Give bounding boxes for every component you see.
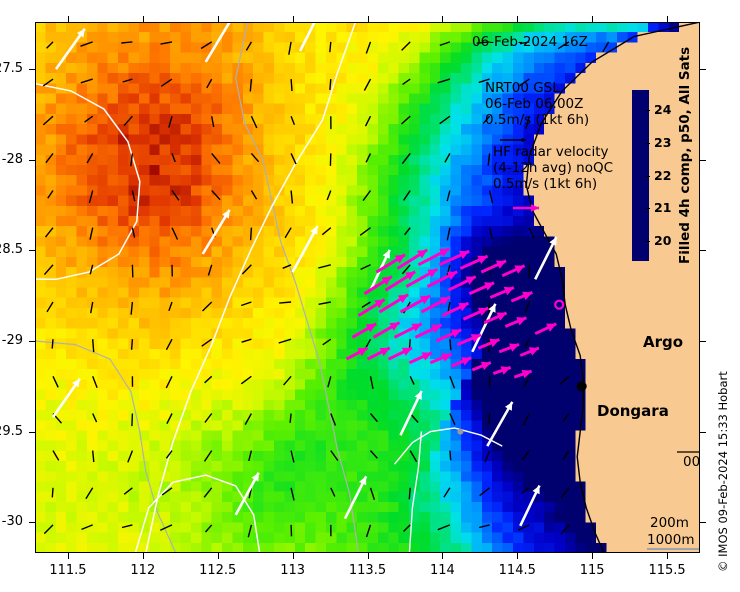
x-axis-tick	[68, 553, 69, 559]
x-axis-tick	[592, 553, 593, 559]
wind-barb[interactable]	[206, 525, 212, 532]
wind-barb[interactable]	[90, 228, 93, 240]
wind-barb[interactable]	[529, 228, 534, 239]
copyright-credit: © IMOS 09-Feb-2024 15:33 Hobart	[716, 272, 730, 572]
wind-barb[interactable]	[131, 302, 132, 315]
y-axis-label: -29	[0, 333, 23, 348]
wind-barb[interactable]	[450, 376, 455, 388]
wind-barb[interactable]	[248, 525, 251, 537]
wind-barb[interactable]	[93, 376, 97, 387]
x-axis-tick-top	[218, 16, 219, 22]
wind-barb[interactable]	[132, 414, 133, 427]
x-axis-label: 114.5	[487, 563, 547, 578]
wind-barb[interactable]	[525, 302, 529, 313]
wind-barb[interactable]	[447, 228, 450, 241]
gsl-current-vector[interactable]	[300, 22, 325, 51]
wind-barb[interactable]	[93, 339, 94, 352]
y-axis-tick	[29, 160, 35, 161]
wind-barb[interactable]	[52, 339, 53, 348]
colorbar-tick	[645, 176, 650, 177]
depth-contour-200m-b[interactable]	[35, 341, 176, 553]
wind-barb[interactable]	[246, 42, 251, 51]
wind-barb[interactable]	[330, 42, 331, 52]
sst-map-figure: 06-Feb-2024 16Z NRT00 GSL06-Feb 06:00Z0.…	[0, 0, 740, 592]
wind-barb[interactable]	[561, 488, 569, 498]
x-axis-label: 114	[412, 563, 472, 578]
y-axis-label: -29.5	[0, 424, 23, 439]
x-axis-tick-top	[667, 16, 668, 22]
wind-barb[interactable]	[444, 488, 450, 498]
wind-barb[interactable]	[212, 153, 220, 163]
wind-barb[interactable]	[371, 488, 375, 500]
wind-barb[interactable]	[251, 116, 256, 128]
wind-barb[interactable]	[403, 79, 411, 84]
wind-barb[interactable]	[362, 302, 371, 307]
colorbar-tick-label: 22	[654, 168, 671, 183]
wind-barb[interactable]	[410, 451, 417, 462]
wind-barb[interactable]	[249, 451, 252, 461]
wind-barb[interactable]	[46, 153, 53, 162]
map-vector-overlay	[35, 22, 700, 553]
wind-barb[interactable]	[166, 339, 172, 350]
depth-contour-1000m[interactable]	[146, 22, 356, 553]
wind-barb[interactable]	[169, 116, 172, 127]
wind-barb[interactable]	[85, 116, 93, 122]
wind-barb[interactable]	[404, 191, 411, 201]
wind-barb[interactable]	[291, 191, 292, 204]
gsl-legend-line-1: NRT00 GSL	[485, 80, 589, 96]
wind-barb[interactable]	[93, 414, 97, 423]
wind-barb[interactable]	[251, 191, 256, 200]
wind-barb[interactable]	[161, 79, 172, 86]
wind-barb[interactable]	[560, 376, 569, 384]
wind-barb[interactable]	[204, 488, 212, 498]
x-axis-tick-top	[68, 16, 69, 22]
wind-barb[interactable]	[289, 42, 291, 55]
x-axis-tick	[293, 553, 294, 559]
wind-barb[interactable]	[46, 228, 54, 237]
colorbar-tick	[645, 143, 650, 144]
wind-barb[interactable]	[438, 79, 450, 83]
wind-barb[interactable]	[43, 79, 53, 86]
wind-barb[interactable]	[241, 302, 251, 306]
wind-barb[interactable]	[172, 191, 179, 201]
x-axis-tick	[667, 553, 668, 559]
colorbar-tick	[645, 110, 650, 111]
wind-barb[interactable]	[480, 488, 490, 496]
wind-barb[interactable]	[43, 116, 53, 125]
wind-barb[interactable]	[123, 79, 133, 82]
wind-barb[interactable]	[132, 339, 133, 350]
wind-barb[interactable]	[212, 191, 220, 200]
wind-barb[interactable]	[518, 525, 529, 530]
wind-barb[interactable]	[291, 79, 292, 91]
y-axis-tick-right	[700, 250, 706, 251]
wind-barb[interactable]	[87, 153, 93, 163]
x-axis-tick	[218, 553, 219, 559]
wind-barb[interactable]	[205, 376, 212, 383]
wind-barb[interactable]	[81, 79, 93, 83]
map-timestamp-title: 06-Feb-2024 16Z	[472, 34, 588, 50]
wind-barb[interactable]	[402, 153, 410, 163]
x-axis-tick	[143, 553, 144, 559]
wind-barb[interactable]	[366, 116, 371, 126]
x-axis-label: 112.5	[188, 563, 248, 578]
wind-barb[interactable]	[525, 339, 529, 347]
wind-barb[interactable]	[402, 116, 411, 124]
wind-barb[interactable]	[172, 153, 175, 162]
depth-contour-200m[interactable]	[236, 22, 359, 553]
wind-barb[interactable]	[251, 228, 252, 241]
gsl-legend-line-3: 0.5m/s (1kt 6h)	[485, 112, 589, 128]
wind-barb[interactable]	[490, 228, 493, 239]
edge-time-label: 00Z	[683, 454, 700, 470]
x-axis-label: 115.5	[637, 563, 697, 578]
argo-label: Argo	[643, 334, 683, 350]
wind-barb[interactable]	[132, 191, 134, 202]
colorbar-tick-label: 24	[654, 102, 671, 117]
wind-barb[interactable]	[488, 302, 489, 314]
x-axis-tick-top	[143, 16, 144, 22]
wind-barb[interactable]	[450, 414, 455, 425]
depth-contour-1000m-b[interactable]	[35, 84, 140, 280]
x-axis-label: 111.5	[38, 563, 98, 578]
wind-barb[interactable]	[371, 414, 378, 422]
colorbar-title: Filled 4h comp, p50, All Sats	[677, 84, 693, 264]
wind-barb[interactable]	[489, 414, 490, 424]
wind-barb[interactable]	[409, 488, 410, 500]
wind-barb[interactable]	[440, 116, 450, 124]
wind-barb[interactable]	[367, 525, 371, 537]
wind-barb[interactable]	[371, 376, 374, 389]
wind-barb[interactable]	[327, 191, 331, 200]
wind-barb[interactable]	[203, 302, 212, 311]
colorbar-tick-label: 21	[654, 200, 671, 215]
wind-barb[interactable]	[124, 488, 132, 495]
wind-barb[interactable]	[485, 451, 490, 463]
wind-barb[interactable]	[363, 191, 370, 201]
y-axis-tick-right	[700, 69, 706, 70]
wind-barb[interactable]	[202, 339, 212, 346]
x-axis-tick-top	[517, 16, 518, 22]
wind-barb[interactable]	[44, 265, 53, 275]
y-axis-tick	[29, 522, 35, 523]
wind-barb[interactable]	[448, 302, 450, 312]
hf-radar-legend-text: HF radar velocity(4-12h avg) noQC0.5m/s …	[493, 144, 613, 192]
secondary-float-marker[interactable]	[457, 429, 463, 435]
wind-barb[interactable]	[603, 42, 609, 52]
hf-legend-line-3: 0.5m/s (1kt 6h)	[493, 176, 613, 192]
x-axis-label: 115	[562, 563, 622, 578]
colorbar-tick	[645, 208, 650, 209]
colorbar-tick-label: 20	[654, 233, 671, 248]
x-axis-label: 112	[113, 563, 173, 578]
x-axis-label: 113.5	[338, 563, 398, 578]
wind-barb[interactable]	[169, 302, 172, 311]
wind-barb[interactable]	[47, 302, 53, 312]
wind-barb[interactable]	[402, 42, 411, 51]
wind-barb[interactable]	[291, 116, 294, 125]
wind-barb[interactable]	[323, 339, 331, 345]
gsl-legend-line-2: 06-Feb 06:00Z	[485, 96, 589, 112]
wind-barb[interactable]	[489, 339, 490, 352]
wind-barb[interactable]	[93, 451, 94, 463]
wind-barb[interactable]	[131, 153, 133, 166]
wind-barb[interactable]	[563, 414, 569, 422]
wind-barb[interactable]	[82, 525, 93, 530]
wind-barb[interactable]	[366, 42, 370, 54]
wind-barb[interactable]	[205, 451, 212, 462]
wind-barb[interactable]	[242, 339, 252, 342]
wind-barb[interactable]	[205, 414, 212, 423]
wind-barb[interactable]	[438, 525, 450, 530]
wind-barb[interactable]	[318, 265, 331, 268]
wind-barb[interactable]	[450, 451, 451, 461]
wind-barb[interactable]	[53, 451, 59, 461]
wind-barb[interactable]	[48, 191, 53, 199]
wind-barb[interactable]	[212, 116, 214, 127]
wind-barb[interactable]	[172, 228, 178, 240]
wind-barb[interactable]	[404, 525, 411, 532]
wind-barb[interactable]	[161, 42, 173, 44]
y-axis-label: -27.5	[0, 61, 23, 76]
wind-barb[interactable]	[488, 153, 489, 165]
hf-reference-arrow-head[interactable]	[531, 204, 539, 212]
y-axis-label: -30	[0, 514, 23, 529]
wind-barb[interactable]	[563, 451, 569, 460]
wind-barb[interactable]	[241, 376, 251, 384]
colorbar-tick	[645, 241, 650, 242]
y-axis-tick-right	[700, 160, 706, 161]
y-axis-tick	[29, 341, 35, 342]
wind-barb[interactable]	[322, 228, 331, 235]
x-axis-tick-top	[442, 16, 443, 22]
wind-barb[interactable]	[331, 451, 338, 461]
wind-barb[interactable]	[207, 79, 212, 88]
wind-barb[interactable]	[479, 525, 489, 528]
wind-barb[interactable]	[523, 414, 529, 426]
wind-barb[interactable]	[279, 302, 291, 303]
wind-barb[interactable]	[121, 42, 132, 43]
wind-barb[interactable]	[291, 451, 294, 463]
wind-barb[interactable]	[160, 525, 172, 530]
x-axis-tick-top	[592, 16, 593, 22]
x-axis-tick-top	[368, 16, 369, 22]
wind-barb[interactable]	[319, 302, 331, 304]
wind-barb[interactable]	[561, 525, 569, 534]
wind-barb[interactable]	[490, 191, 493, 204]
wind-barb[interactable]	[279, 339, 291, 343]
wind-barb[interactable]	[167, 414, 172, 424]
y-axis-label: -28	[0, 152, 23, 167]
colorbar-tick-label: 23	[654, 135, 671, 150]
y-axis-tick-right	[700, 522, 706, 523]
y-axis-tick	[29, 250, 35, 251]
wind-barb[interactable]	[81, 42, 93, 46]
wind-barb[interactable]	[47, 42, 53, 48]
depth-label-200m: 200m	[650, 515, 689, 531]
wind-barb[interactable]	[251, 153, 258, 161]
dongara-town-marker[interactable]	[577, 381, 587, 391]
wind-barb[interactable]	[522, 488, 530, 493]
wind-barb[interactable]	[124, 116, 132, 125]
gsl-current-vector[interactable]	[206, 22, 235, 62]
wind-barb[interactable]	[361, 265, 371, 270]
depth-label-1000m: 1000m	[647, 532, 695, 548]
y-axis-tick	[29, 432, 35, 433]
wind-barb[interactable]	[291, 488, 294, 501]
wind-barb[interactable]	[522, 451, 529, 460]
dongara-label: Dongara	[597, 403, 669, 419]
wind-barb[interactable]	[166, 376, 172, 388]
hf-legend-line-1: HF radar velocity	[493, 144, 613, 160]
hf-legend-line-2: (4-12h avg) noQC	[493, 160, 613, 176]
map-plot-area[interactable]: 06-Feb-2024 16Z NRT00 GSL06-Feb 06:00Z0.…	[35, 22, 700, 553]
wind-barb[interactable]	[128, 451, 133, 463]
wind-barb[interactable]	[52, 488, 53, 498]
wind-barb[interactable]	[447, 191, 450, 202]
wind-barb[interactable]	[328, 376, 331, 387]
x-axis-tick-top	[293, 16, 294, 22]
wind-barb[interactable]	[291, 153, 296, 164]
wind-barb[interactable]	[53, 376, 58, 387]
x-axis-tick	[517, 553, 518, 559]
wind-barb[interactable]	[450, 339, 451, 350]
wind-barb[interactable]	[250, 79, 251, 91]
y-axis-tick-right	[700, 341, 706, 342]
wind-barb[interactable]	[364, 79, 370, 90]
wind-barb[interactable]	[371, 451, 378, 459]
wind-barb[interactable]	[91, 302, 93, 313]
wind-barb[interactable]	[330, 79, 331, 90]
wind-barb[interactable]	[445, 153, 450, 162]
x-axis-tick	[442, 553, 443, 559]
wind-barb[interactable]	[245, 414, 251, 425]
wind-barb[interactable]	[405, 228, 411, 235]
wind-barb[interactable]	[360, 228, 370, 236]
gsl-legend-text: NRT00 GSL06-Feb 06:00Z0.5m/s (1kt 6h)	[485, 80, 589, 128]
wind-barb[interactable]	[132, 228, 134, 238]
wind-barb[interactable]	[410, 376, 414, 384]
wind-barb[interactable]	[284, 376, 292, 385]
x-axis-label: 113	[263, 563, 323, 578]
wind-barb[interactable]	[366, 153, 370, 162]
wind-barb[interactable]	[285, 228, 291, 238]
wind-barb[interactable]	[122, 525, 132, 528]
wind-barb[interactable]	[89, 191, 92, 204]
wind-barb[interactable]	[44, 525, 53, 534]
depth-contour-1000m-e[interactable]	[409, 432, 421, 553]
x-axis-tick	[368, 553, 369, 559]
wind-barb[interactable]	[208, 265, 211, 276]
y-axis-label: -28.5	[0, 242, 23, 257]
gsl-reference-arrow-head[interactable]	[522, 138, 526, 142]
argo-float-marker[interactable]	[555, 301, 563, 309]
wind-barb[interactable]	[86, 488, 93, 499]
wind-barb[interactable]	[290, 414, 291, 423]
wind-barb[interactable]	[331, 488, 335, 497]
wind-barb[interactable]	[440, 42, 450, 46]
y-axis-tick	[29, 69, 35, 70]
y-axis-tick-right	[700, 432, 706, 433]
wind-barb[interactable]	[201, 42, 212, 49]
